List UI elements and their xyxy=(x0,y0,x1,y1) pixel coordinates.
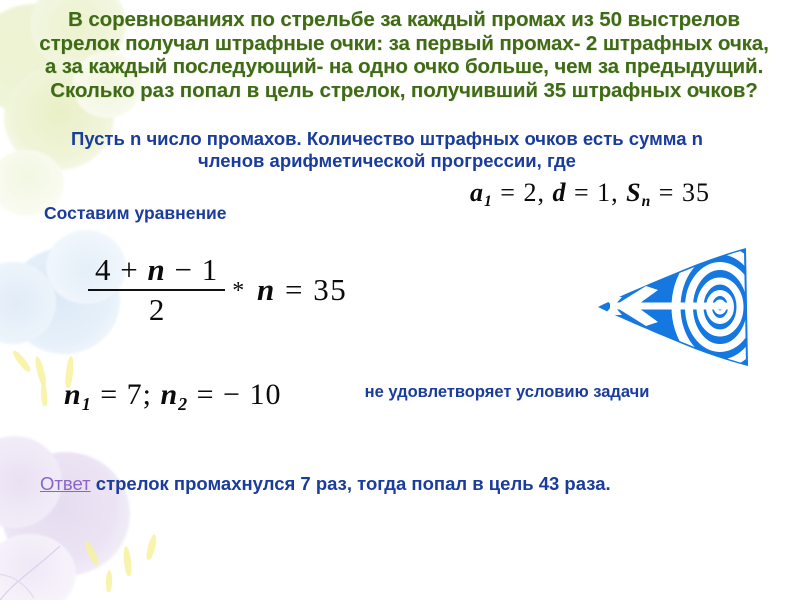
equation-right-side: = 35 xyxy=(285,272,347,307)
target-rings xyxy=(676,250,764,364)
decor-blob-purple xyxy=(0,534,76,600)
decor-petal-yellow xyxy=(83,540,101,566)
root-n2-subscript: 2 xyxy=(178,394,188,414)
given-sn-symbol: S xyxy=(626,178,641,207)
given-d-symbol: d xyxy=(552,178,566,207)
root-n1-subscript: 1 xyxy=(82,394,92,414)
decor-petal-yellow xyxy=(40,382,48,406)
problem-statement-heading: В соревнованиях по стрельбе за каждый пр… xyxy=(36,8,772,102)
decor-blob-blue xyxy=(0,262,56,344)
given-a1-subscript: 1 xyxy=(484,193,493,210)
archery-target-icon xyxy=(596,246,792,368)
given-a1-value: = 2, xyxy=(493,178,545,207)
target-body xyxy=(598,248,764,366)
equation-roots: n1 = 7; n2 = − 10 xyxy=(64,378,281,415)
solution-setup-text: Пусть n число промахов. Количество штраф… xyxy=(42,128,732,172)
fraction-equation: 4 + n − 1 2 * n = 35 xyxy=(88,252,347,328)
answer-line: Ответ стрелок промахнулся 7 раз, тогда п… xyxy=(40,473,611,495)
given-d-value: = 1, xyxy=(566,178,618,207)
numerator-part-b: − 1 xyxy=(166,252,218,287)
decor-petal-yellow xyxy=(33,356,47,387)
slide-canvas: В соревнованиях по стрельбе за каждый пр… xyxy=(0,0,800,600)
equation-multiplier: n xyxy=(257,272,276,307)
given-sn-value: = 35 xyxy=(651,178,710,207)
decor-petal-yellow xyxy=(145,534,158,561)
multiplication-operator: * xyxy=(232,278,246,304)
given-values-formula: a1 = 2, d = 1, Sn = 35 xyxy=(470,178,710,211)
equation-tail: * n = 35 xyxy=(230,272,347,308)
fraction-denominator: 2 xyxy=(149,291,165,328)
root-n1-value: = 7; xyxy=(92,378,152,411)
numerator-part-a: 4 + xyxy=(95,252,147,287)
decor-petal-yellow xyxy=(122,546,132,577)
numerator-variable: n xyxy=(147,252,165,287)
decor-petal-yellow xyxy=(11,349,33,374)
root-n1-symbol: n xyxy=(64,378,82,411)
decor-stem-outline xyxy=(0,540,114,600)
answer-text: стрелок промахнулся 7 раз, тогда попал в… xyxy=(91,473,611,494)
answer-label[interactable]: Ответ xyxy=(40,473,91,494)
fraction: 4 + n − 1 2 xyxy=(88,252,225,328)
rejected-root-note: не удовлетворяет условию задачи xyxy=(357,382,657,402)
root-n2-value: = − 10 xyxy=(188,378,281,411)
root-n2-symbol: n xyxy=(160,378,178,411)
fraction-numerator: 4 + n − 1 xyxy=(88,252,225,289)
decor-petal-yellow xyxy=(106,570,113,592)
given-sn-subscript: n xyxy=(642,193,652,210)
make-equation-label: Составим уравнение xyxy=(44,203,227,224)
decor-blob-purple xyxy=(2,452,130,576)
given-a1-symbol: a xyxy=(470,178,484,207)
